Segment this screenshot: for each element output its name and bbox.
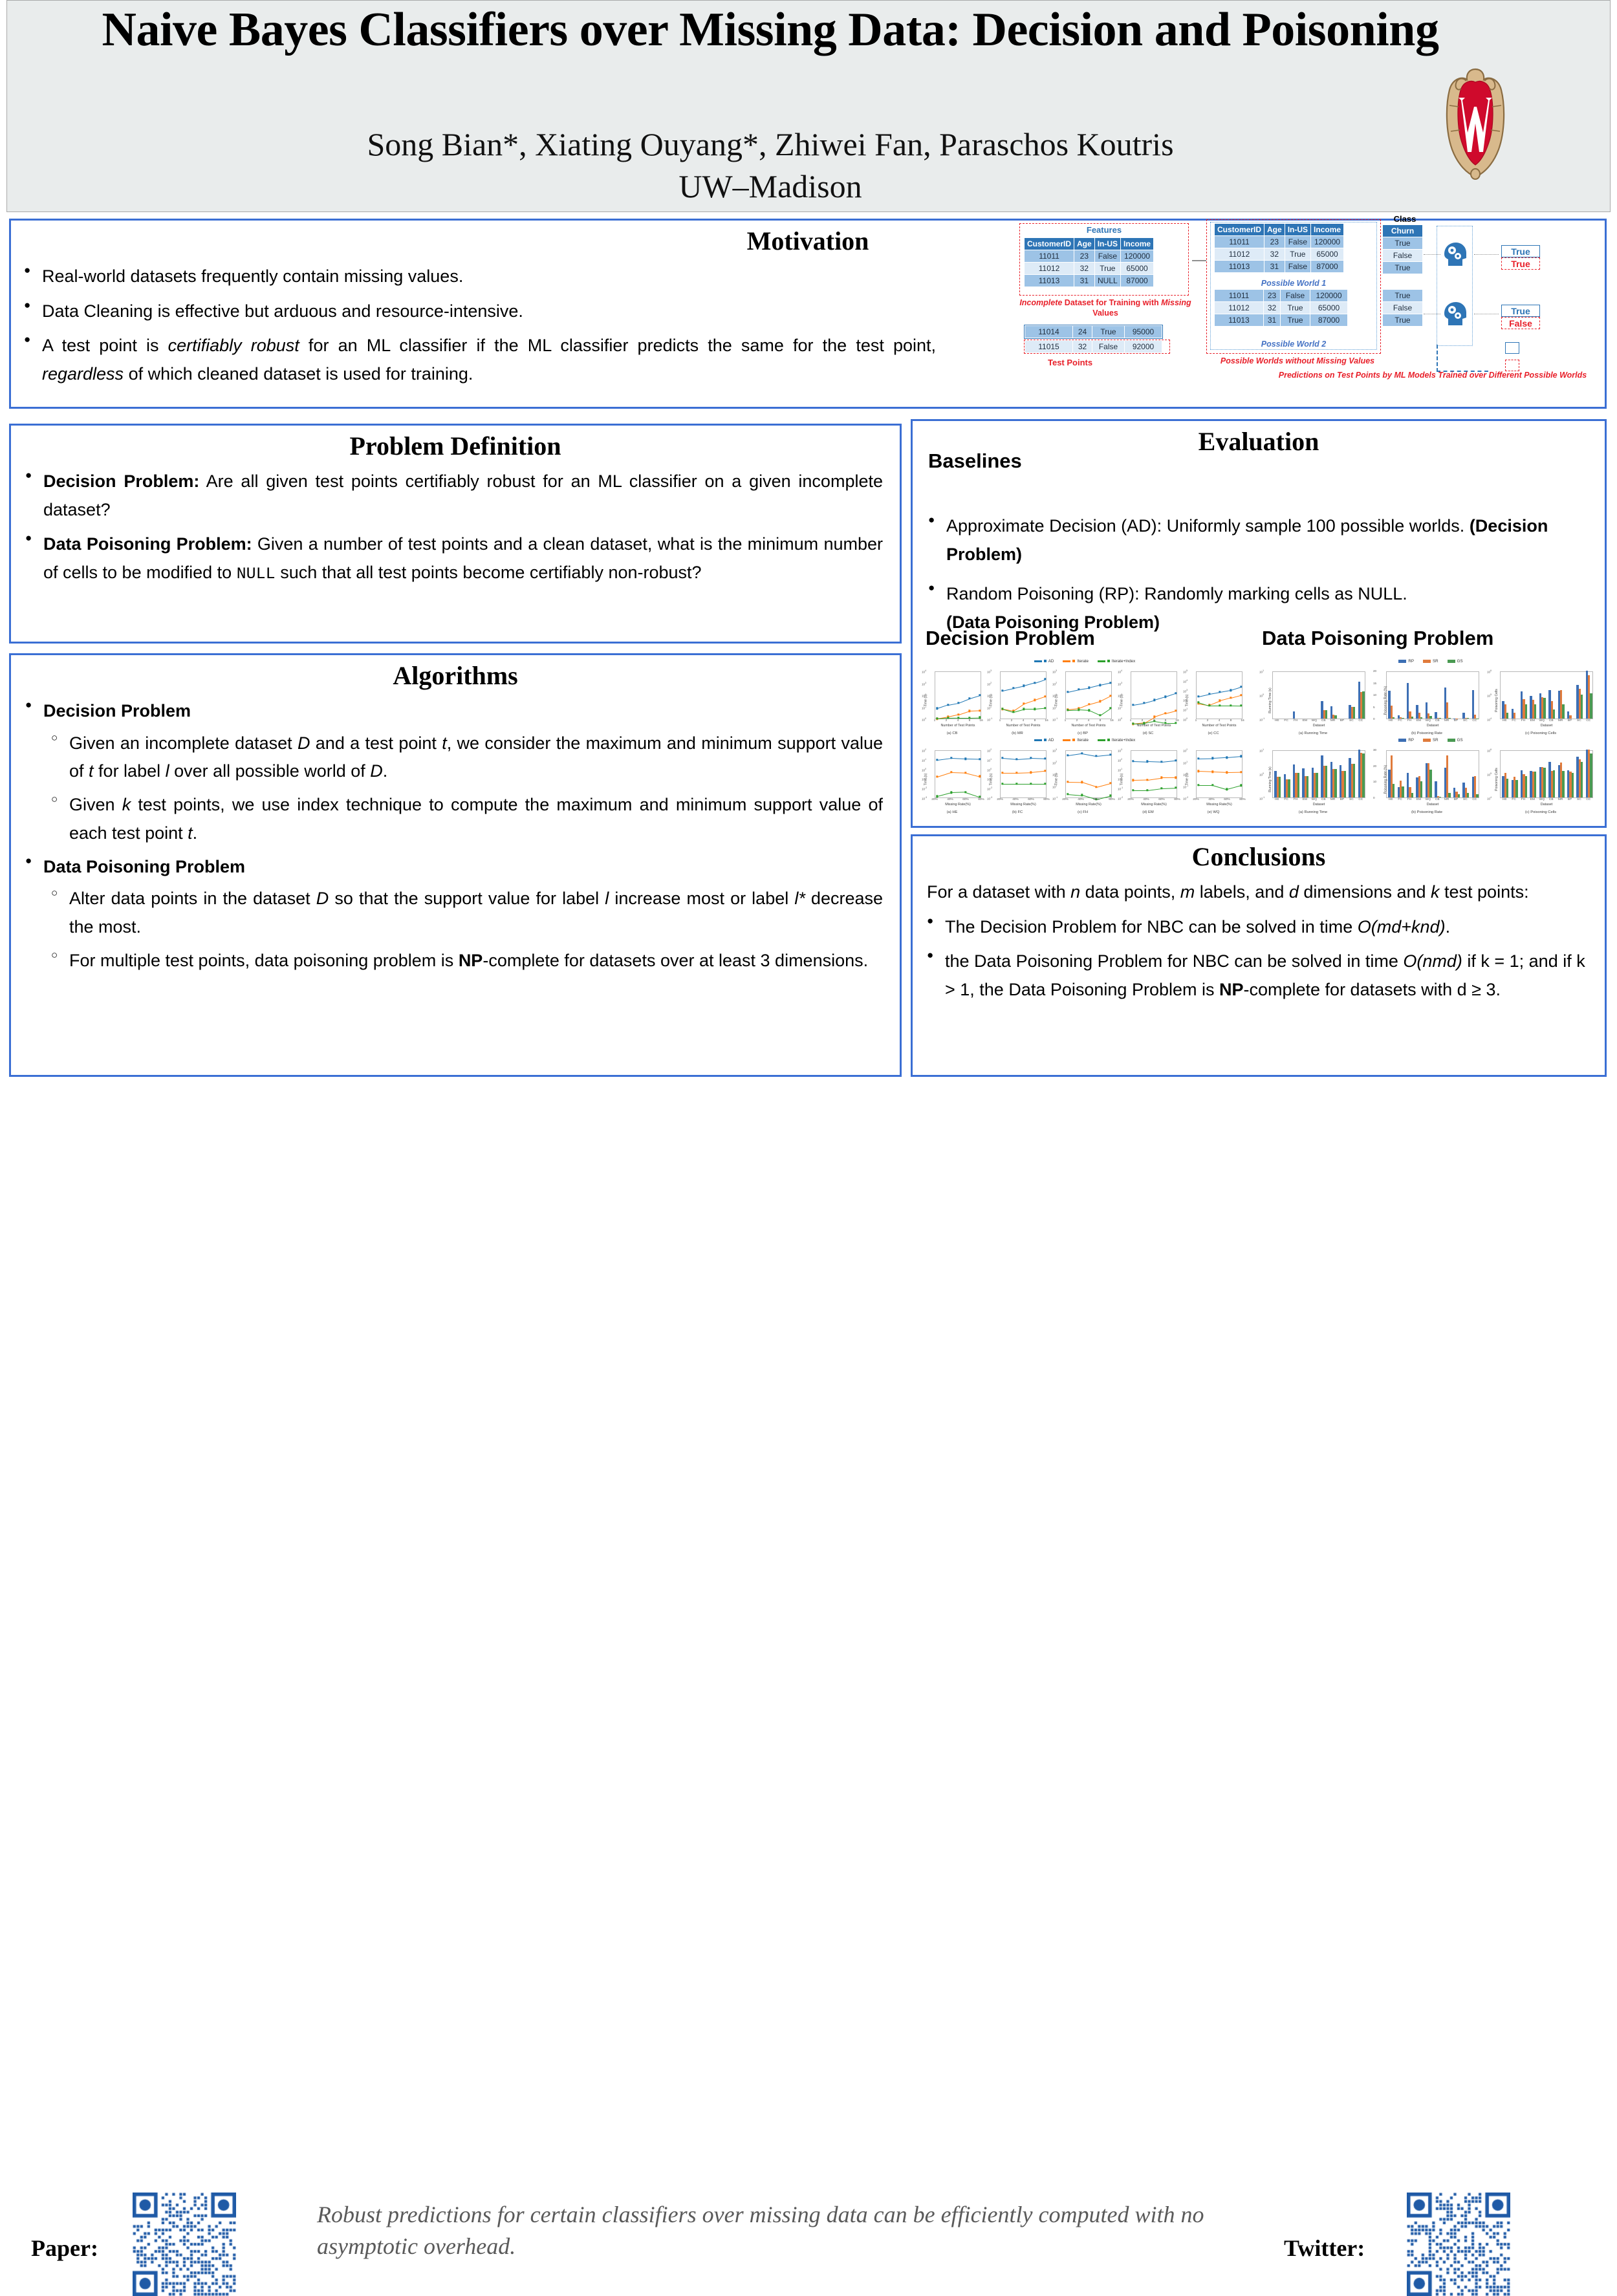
bar bbox=[1334, 769, 1336, 797]
y-tick: 10-1 bbox=[1052, 717, 1058, 722]
x-tick: 1 bbox=[1130, 719, 1132, 722]
plot-area bbox=[1131, 671, 1177, 719]
series-segment bbox=[1024, 700, 1035, 704]
repaired-cell: False bbox=[1285, 261, 1310, 273]
y-tick: 10-1 bbox=[1259, 796, 1264, 801]
bar bbox=[1420, 781, 1422, 797]
x-tick: 80% bbox=[978, 798, 984, 801]
table-row: 11012 32 True 65000 bbox=[1215, 248, 1344, 261]
y-tick: 105 bbox=[1487, 693, 1492, 698]
panel-subtitle: (a) Running Time bbox=[1258, 810, 1368, 814]
conclusions-bullets: The Decision Problem for NBC can be solv… bbox=[920, 913, 1589, 1004]
list-item: The Decision Problem for NBC can be solv… bbox=[920, 913, 1589, 942]
x-tick: BP bbox=[1454, 798, 1458, 801]
x-tick: 2 bbox=[1142, 719, 1144, 722]
x-tick: 80% bbox=[1239, 798, 1246, 801]
bar bbox=[1420, 717, 1422, 719]
chart-panel-bPoisoningRate: Poisoning Rate (%)Dataset(b) Poisoning R… bbox=[1372, 744, 1482, 815]
x-tick: 16 bbox=[1241, 719, 1244, 722]
x-tick: 2 bbox=[946, 719, 948, 722]
y-tick: 101 bbox=[1259, 669, 1264, 674]
x-tick: CC bbox=[1586, 798, 1590, 801]
x-tick: MR bbox=[1444, 719, 1449, 722]
bar bbox=[1439, 797, 1441, 797]
series-segment bbox=[959, 711, 970, 715]
legend-entry: GS bbox=[1448, 738, 1463, 742]
legend-entry: Iterate+Index bbox=[1098, 738, 1135, 742]
ml-model-head-icon-2 bbox=[1440, 301, 1470, 327]
bar bbox=[1476, 794, 1478, 797]
legend-key-dashed bbox=[1505, 360, 1519, 371]
author-list: Song Bian*, Xiating Ouyang*, Zhiwei Fan,… bbox=[59, 127, 1482, 162]
series-segment bbox=[1220, 690, 1231, 693]
list-item: For multiple test points, data poisoning… bbox=[43, 947, 883, 975]
bar bbox=[1411, 793, 1413, 797]
legend-entry: SR bbox=[1423, 659, 1438, 664]
bar bbox=[1429, 716, 1431, 719]
y-tick: 15 bbox=[1373, 682, 1376, 685]
y-tick: 10-1 bbox=[922, 777, 927, 781]
y-tick: 101 bbox=[1118, 768, 1122, 772]
series-segment bbox=[966, 773, 980, 777]
bar bbox=[1562, 704, 1564, 719]
uw-madison-crest-icon bbox=[1437, 64, 1514, 180]
series-segment bbox=[1210, 692, 1221, 695]
x-tick: EM bbox=[1416, 719, 1421, 722]
y-tick: 102 bbox=[987, 748, 992, 753]
series-segment bbox=[1031, 758, 1045, 759]
series-segment bbox=[1220, 706, 1231, 706]
bar bbox=[1569, 715, 1571, 719]
x-tick: WQ bbox=[1539, 798, 1545, 801]
x-tick: 80% bbox=[1174, 798, 1180, 801]
possible-worlds-caption: Possible Worlds without Missing Values bbox=[1197, 356, 1398, 365]
series-segment bbox=[1199, 785, 1213, 786]
x-tick: 40% bbox=[947, 798, 953, 801]
x-tick: 20% bbox=[1062, 798, 1069, 801]
y-tick: 106 bbox=[1487, 669, 1492, 674]
y-tick: 100 bbox=[922, 768, 926, 772]
y-tick: 100 bbox=[1259, 772, 1264, 777]
x-tick: 16 bbox=[1110, 719, 1113, 722]
series-segment bbox=[948, 718, 959, 719]
x-tick: MR bbox=[1558, 798, 1563, 801]
x-tick: FC bbox=[1512, 798, 1515, 801]
panel-subtitle: (d) EM bbox=[1116, 810, 1180, 814]
plot-area bbox=[1000, 671, 1047, 719]
y-tick: 102 bbox=[1052, 682, 1057, 686]
bar bbox=[1590, 693, 1592, 719]
x-tick: 1 bbox=[934, 719, 936, 722]
arrow-ml-to-prediction-1 bbox=[1474, 254, 1499, 255]
series-segment bbox=[1082, 782, 1096, 787]
y-tick: 102 bbox=[1183, 748, 1188, 753]
series-segment bbox=[1220, 698, 1231, 701]
x-tick: CB bbox=[1435, 798, 1440, 801]
prediction-flow-connector bbox=[1437, 345, 1488, 372]
y-tick: 102 bbox=[922, 693, 926, 698]
series-segment bbox=[1079, 704, 1090, 709]
x-tick: 4 bbox=[1023, 719, 1025, 722]
y-tick: 103 bbox=[1052, 748, 1057, 753]
incomplete-dataset-table: CustomerID Age In-US Income 11011 23 Fal… bbox=[1024, 237, 1154, 287]
table-row: True bbox=[1383, 262, 1423, 274]
bar bbox=[1429, 770, 1431, 797]
table-row: 11013 31 NULL 87000 bbox=[1025, 275, 1154, 287]
x-tick: 8 bbox=[1165, 719, 1167, 722]
x-tick: FH bbox=[1407, 719, 1411, 722]
bar bbox=[1293, 711, 1295, 719]
y-tick: 100 bbox=[1052, 785, 1057, 789]
prediction-box-2-clean: True bbox=[1501, 305, 1540, 317]
bar bbox=[1446, 755, 1448, 797]
x-tick: BP bbox=[1568, 798, 1572, 801]
table-row: 11012 32 True 65000 bbox=[1215, 302, 1348, 314]
y-tick: 104 bbox=[1487, 796, 1492, 801]
y-axis-label: Running Time (s) bbox=[1268, 766, 1272, 792]
y-tick: 101 bbox=[987, 758, 992, 763]
conclusions-intro: For a dataset with n data points, m labe… bbox=[927, 878, 1590, 907]
y-tick: 101 bbox=[1052, 693, 1057, 698]
legend-entry: SR bbox=[1423, 738, 1438, 742]
test-point-row-1: 11014 24 True 95000 bbox=[1024, 325, 1163, 339]
series-segment bbox=[1147, 788, 1162, 791]
x-tick: CC bbox=[1358, 719, 1363, 722]
panel-subtitle: (c) Poisoning Cells bbox=[1486, 810, 1596, 814]
series-segment bbox=[1017, 784, 1031, 785]
table-row: False bbox=[1383, 302, 1423, 314]
x-axis-label: Number of Test Points bbox=[1000, 724, 1047, 728]
x-tick: SC bbox=[1577, 798, 1581, 801]
panel-subtitle: (b) Poisoning Rate bbox=[1372, 810, 1482, 814]
bar bbox=[1325, 710, 1327, 719]
bar bbox=[1297, 773, 1299, 797]
plot-area bbox=[1386, 750, 1479, 798]
y-tick: 0 bbox=[1373, 796, 1375, 799]
x-tick: CC bbox=[1358, 798, 1363, 801]
y-axis-label: Poisoning Cells bbox=[1495, 689, 1499, 712]
series-segment bbox=[1162, 761, 1176, 763]
chart-panel-cFH: Time (s)Missing Rate(%)(c) FH10-11001011… bbox=[1051, 744, 1114, 815]
list-item: Given k test points, we use index techni… bbox=[43, 791, 883, 847]
prediction-box-2-incomplete: False bbox=[1501, 317, 1540, 329]
panel-subtitle: (b) FC bbox=[986, 810, 1049, 814]
incomplete-dataset-caption: Incomplete Dataset for Training with Mis… bbox=[1019, 298, 1192, 318]
series-segment bbox=[1166, 693, 1177, 697]
series-segment bbox=[1068, 753, 1082, 756]
series-segment bbox=[1162, 788, 1176, 789]
x-axis-label: Dataset bbox=[1386, 803, 1479, 807]
table-row: True bbox=[1383, 314, 1423, 327]
x-tick: 1 bbox=[999, 719, 1001, 722]
x-tick: WQ bbox=[1539, 719, 1545, 722]
x-tick: FC bbox=[1512, 719, 1515, 722]
y-tick: 100 bbox=[922, 717, 926, 722]
series-segment bbox=[1089, 710, 1100, 715]
x-tick: 2 bbox=[1207, 719, 1209, 722]
x-tick: MR bbox=[1330, 719, 1335, 722]
decision-problem-chart-heading: Decision Problem bbox=[926, 627, 1095, 650]
possible-world-1-label: Possible World 1 bbox=[1210, 279, 1377, 288]
x-tick: FH bbox=[1294, 798, 1297, 801]
y-tick: 100 bbox=[1118, 717, 1122, 722]
test-point-row-2: 11015 32 False 92000 bbox=[1024, 340, 1170, 354]
x-axis-label: Missing Rate(%) bbox=[1000, 803, 1047, 807]
y-tick: 101 bbox=[1259, 748, 1264, 753]
bar bbox=[1562, 771, 1564, 797]
x-axis-label: Number of Test Points bbox=[1131, 724, 1177, 728]
class-label: Class bbox=[1382, 214, 1427, 224]
y-tick: 102 bbox=[1052, 761, 1057, 765]
features-label: Features bbox=[1019, 225, 1189, 235]
chart-panel-dSC: Time (s)Number of Test Points(d) SC10010… bbox=[1116, 665, 1180, 736]
x-tick: 8 bbox=[969, 719, 971, 722]
series-segment bbox=[1199, 758, 1213, 759]
x-axis-label: Number of Test Points bbox=[1065, 724, 1112, 728]
table-row: 11011 23 False 120000 bbox=[1215, 236, 1344, 248]
series-segment bbox=[1199, 694, 1210, 697]
y-tick: 103 bbox=[1183, 689, 1188, 693]
x-tick: SC bbox=[1349, 719, 1354, 722]
bar bbox=[1553, 709, 1555, 719]
series-segment bbox=[1213, 757, 1227, 759]
x-tick: CB bbox=[1321, 719, 1326, 722]
series-segment bbox=[1100, 696, 1111, 702]
affiliation: UW–Madison bbox=[59, 170, 1482, 202]
y-tick: 104 bbox=[1487, 717, 1492, 722]
panel-subtitle: (c) Poisoning Cells bbox=[1486, 731, 1596, 735]
twitter-qr-code[interactable] bbox=[1407, 2193, 1510, 2296]
plot-area bbox=[1065, 671, 1112, 719]
x-tick: 8 bbox=[1034, 719, 1036, 722]
bar bbox=[1362, 753, 1364, 797]
y-tick: 100 bbox=[1118, 777, 1122, 781]
x-tick: 20% bbox=[1193, 798, 1199, 801]
y-tick: 103 bbox=[1118, 748, 1122, 753]
null-cell: NULL bbox=[1094, 275, 1120, 287]
legend-entry: GS bbox=[1448, 659, 1463, 664]
list-item: Decision Problem: Are all given test poi… bbox=[19, 468, 883, 524]
y-tick: 106 bbox=[1487, 748, 1492, 753]
chart-panel-aRunningTime: Running Time (s)Dataset(a) Running Time1… bbox=[1258, 744, 1368, 815]
legend-entry: Iterate bbox=[1063, 659, 1089, 664]
y-tick: 10 bbox=[1373, 780, 1376, 783]
y-tick: 30 bbox=[1373, 748, 1376, 752]
prediction-box-1-clean: True bbox=[1501, 245, 1540, 257]
x-tick: 2 bbox=[1011, 719, 1013, 722]
table-row: 11015 32 False 92000 bbox=[1025, 341, 1162, 353]
x-tick: FC bbox=[1398, 719, 1402, 722]
bar bbox=[1534, 772, 1536, 797]
series-segment bbox=[1003, 784, 1017, 785]
bar bbox=[1446, 702, 1448, 719]
x-tick: CB bbox=[1549, 719, 1554, 722]
panel-algorithms: Algorithms Decision Problem Given an inc… bbox=[9, 653, 902, 1077]
y-tick: 10-2 bbox=[1118, 796, 1123, 801]
series-segment bbox=[1003, 773, 1017, 774]
chart-legend: RPSRGS bbox=[1269, 659, 1592, 664]
twitter-qr-label: Twitter: bbox=[1284, 2235, 1365, 2262]
bar bbox=[1288, 779, 1290, 797]
chart-panel-aHE: Time (s)Missing Rate(%)(a) HE10-310-210-… bbox=[920, 744, 984, 815]
series-segment bbox=[1147, 777, 1162, 780]
bar bbox=[1279, 777, 1281, 797]
x-tick: 60% bbox=[1093, 798, 1100, 801]
plot-area bbox=[1272, 671, 1365, 719]
x-tick: 4 bbox=[1219, 719, 1221, 722]
panel-subtitle: (e) CC bbox=[1182, 731, 1245, 735]
series-segment bbox=[1068, 709, 1079, 710]
table-row: 11014 24 True 95000 bbox=[1025, 326, 1162, 338]
bar bbox=[1506, 713, 1508, 719]
series-segment bbox=[1082, 753, 1096, 757]
series-segment bbox=[1199, 771, 1213, 772]
list-item: Decision Problem Given an incomplete dat… bbox=[19, 697, 883, 848]
bar bbox=[1353, 764, 1355, 797]
x-tick: SC bbox=[1463, 719, 1468, 722]
x-tick: HE bbox=[1389, 719, 1393, 722]
page-title: Naive Bayes Classifiers over Missing Dat… bbox=[59, 6, 1482, 54]
col-header: In-US bbox=[1094, 238, 1120, 250]
x-tick: EM bbox=[1416, 798, 1421, 801]
y-tick: 104 bbox=[922, 669, 926, 674]
arrow-incomplete-to-worlds bbox=[1192, 260, 1206, 261]
bar bbox=[1467, 718, 1469, 719]
series-segment bbox=[1133, 761, 1147, 763]
bar bbox=[1353, 707, 1355, 719]
class-column-world2: True False True bbox=[1382, 289, 1423, 327]
series-segment bbox=[1014, 686, 1025, 689]
paper-qr-label: Paper: bbox=[31, 2235, 98, 2262]
series-segment bbox=[1035, 697, 1046, 700]
data-poisoning-chart-heading: Data Poisoning Problem bbox=[1262, 627, 1493, 650]
test-points-label: Test Points bbox=[1048, 358, 1092, 367]
bar bbox=[1411, 717, 1413, 719]
chart-panel-aRunningTime: Running Time (s)Dataset(a) Running Time1… bbox=[1258, 665, 1368, 736]
y-tick: 10-1 bbox=[1259, 717, 1264, 722]
x-axis-label: Dataset bbox=[1500, 803, 1593, 807]
baselines-list: Approximate Decision (AD): Uniformly sam… bbox=[922, 512, 1589, 637]
series-segment bbox=[1003, 758, 1017, 760]
x-tick: CC bbox=[1472, 719, 1477, 722]
bar bbox=[1525, 704, 1527, 719]
series-segment bbox=[1230, 706, 1241, 706]
y-tick: 10-3 bbox=[922, 796, 927, 801]
chart-legend: ADIterateIterate+Index bbox=[923, 659, 1246, 664]
x-tick: WQ bbox=[1312, 719, 1317, 722]
possible-world-2-label: Possible World 2 bbox=[1210, 340, 1377, 349]
series-segment bbox=[1210, 706, 1221, 706]
x-tick: SC bbox=[1349, 798, 1354, 801]
paper-qr-code[interactable] bbox=[133, 2193, 236, 2296]
x-tick: MR bbox=[1330, 798, 1335, 801]
panel-conclusions: Conclusions For a dataset with n data po… bbox=[911, 834, 1607, 1077]
bar bbox=[1402, 786, 1404, 797]
series-segment bbox=[1017, 758, 1031, 759]
x-tick: MR bbox=[1444, 798, 1449, 801]
list-item: Given an incomplete dataset D and a test… bbox=[43, 730, 883, 786]
bar bbox=[1581, 695, 1583, 719]
y-tick: 101 bbox=[1118, 706, 1122, 710]
prediction-box-1-incomplete: True bbox=[1501, 257, 1540, 270]
table-row: 11012 32 True 65000 bbox=[1025, 263, 1154, 275]
poster-footer: Paper: Robust predictions for certain cl… bbox=[0, 1093, 1617, 1213]
baselines-label: Baselines bbox=[928, 449, 1022, 473]
x-tick: 4 bbox=[957, 719, 959, 722]
x-tick: EM bbox=[1530, 719, 1535, 722]
panel-subtitle: (b) Poisoning Rate bbox=[1372, 731, 1482, 735]
series-segment bbox=[1133, 790, 1147, 791]
bar bbox=[1534, 704, 1536, 719]
x-tick: 2 bbox=[1076, 719, 1078, 722]
series-segment bbox=[1096, 755, 1111, 757]
bar bbox=[1393, 717, 1395, 719]
chart-panel-bFC: Time (s)Missing Rate(%)(b) FC10-310-210-… bbox=[986, 744, 1049, 815]
panel-subtitle: (a) CB bbox=[920, 731, 984, 735]
bar bbox=[1402, 718, 1404, 719]
bar bbox=[1448, 793, 1450, 797]
list-item: Data Poisoning Problem: Given a number o… bbox=[19, 530, 883, 587]
chart-panel-eWQ: Time (s)Missing Rate(%)(e) WQ10-210-1100… bbox=[1182, 744, 1245, 815]
x-tick: 1 bbox=[1195, 719, 1197, 722]
bar bbox=[1590, 753, 1592, 797]
x-tick: 60% bbox=[1224, 798, 1230, 801]
x-tick: BP bbox=[1340, 719, 1344, 722]
panel-subtitle: (a) Running Time bbox=[1258, 731, 1368, 735]
series-segment bbox=[1231, 687, 1242, 691]
series-segment bbox=[1017, 772, 1031, 774]
x-axis-label: Dataset bbox=[1500, 724, 1593, 728]
x-tick: 8 bbox=[1230, 719, 1232, 722]
series-segment bbox=[937, 772, 951, 777]
bar bbox=[1506, 779, 1508, 797]
y-tick: 102 bbox=[1183, 698, 1188, 702]
x-tick: 40% bbox=[1208, 798, 1215, 801]
x-axis-label: Missing Rate(%) bbox=[1196, 803, 1243, 807]
x-tick: EM bbox=[1303, 798, 1307, 801]
y-tick: 10-1 bbox=[1118, 786, 1123, 791]
arrow-class-to-ml-2 bbox=[1424, 314, 1440, 314]
y-tick: 20 bbox=[1373, 669, 1376, 673]
bar bbox=[1581, 762, 1583, 797]
poster-header: Naive Bayes Classifiers over Missing Dat… bbox=[6, 0, 1611, 212]
list-item: Data Poisoning Problem Alter data points… bbox=[19, 853, 883, 975]
panel-title-conclusions: Conclusions bbox=[913, 841, 1605, 872]
series-segment bbox=[1213, 772, 1227, 773]
legend-entry: RP bbox=[1398, 738, 1414, 742]
x-tick: HE bbox=[1503, 719, 1507, 722]
series-segment bbox=[1096, 783, 1111, 788]
x-tick: FC bbox=[1284, 719, 1288, 722]
y-tick: 101 bbox=[922, 758, 926, 763]
table-row: 11013 31 True 87000 bbox=[1215, 314, 1348, 327]
chart-panel-aCB: Time (s)Number of Test Points(a) CB10010… bbox=[920, 665, 984, 736]
ml-model-head-icon-1 bbox=[1440, 241, 1470, 267]
arrow-ml-to-prediction-2 bbox=[1474, 314, 1499, 314]
panel-subtitle: (a) HE bbox=[920, 810, 984, 814]
x-tick: MR bbox=[1558, 719, 1563, 722]
y-tick: 101 bbox=[922, 706, 926, 710]
y-tick: 0 bbox=[1373, 717, 1375, 720]
y-tick: 102 bbox=[1118, 758, 1122, 763]
series-segment bbox=[1031, 784, 1045, 785]
x-tick: CB bbox=[1321, 798, 1326, 801]
series-segment bbox=[959, 718, 970, 719]
x-tick: BP bbox=[1340, 798, 1344, 801]
list-item: Approximate Decision (AD): Uniformly sam… bbox=[922, 512, 1589, 569]
y-tick: 102 bbox=[922, 748, 926, 753]
y-tick: 101 bbox=[987, 693, 992, 698]
